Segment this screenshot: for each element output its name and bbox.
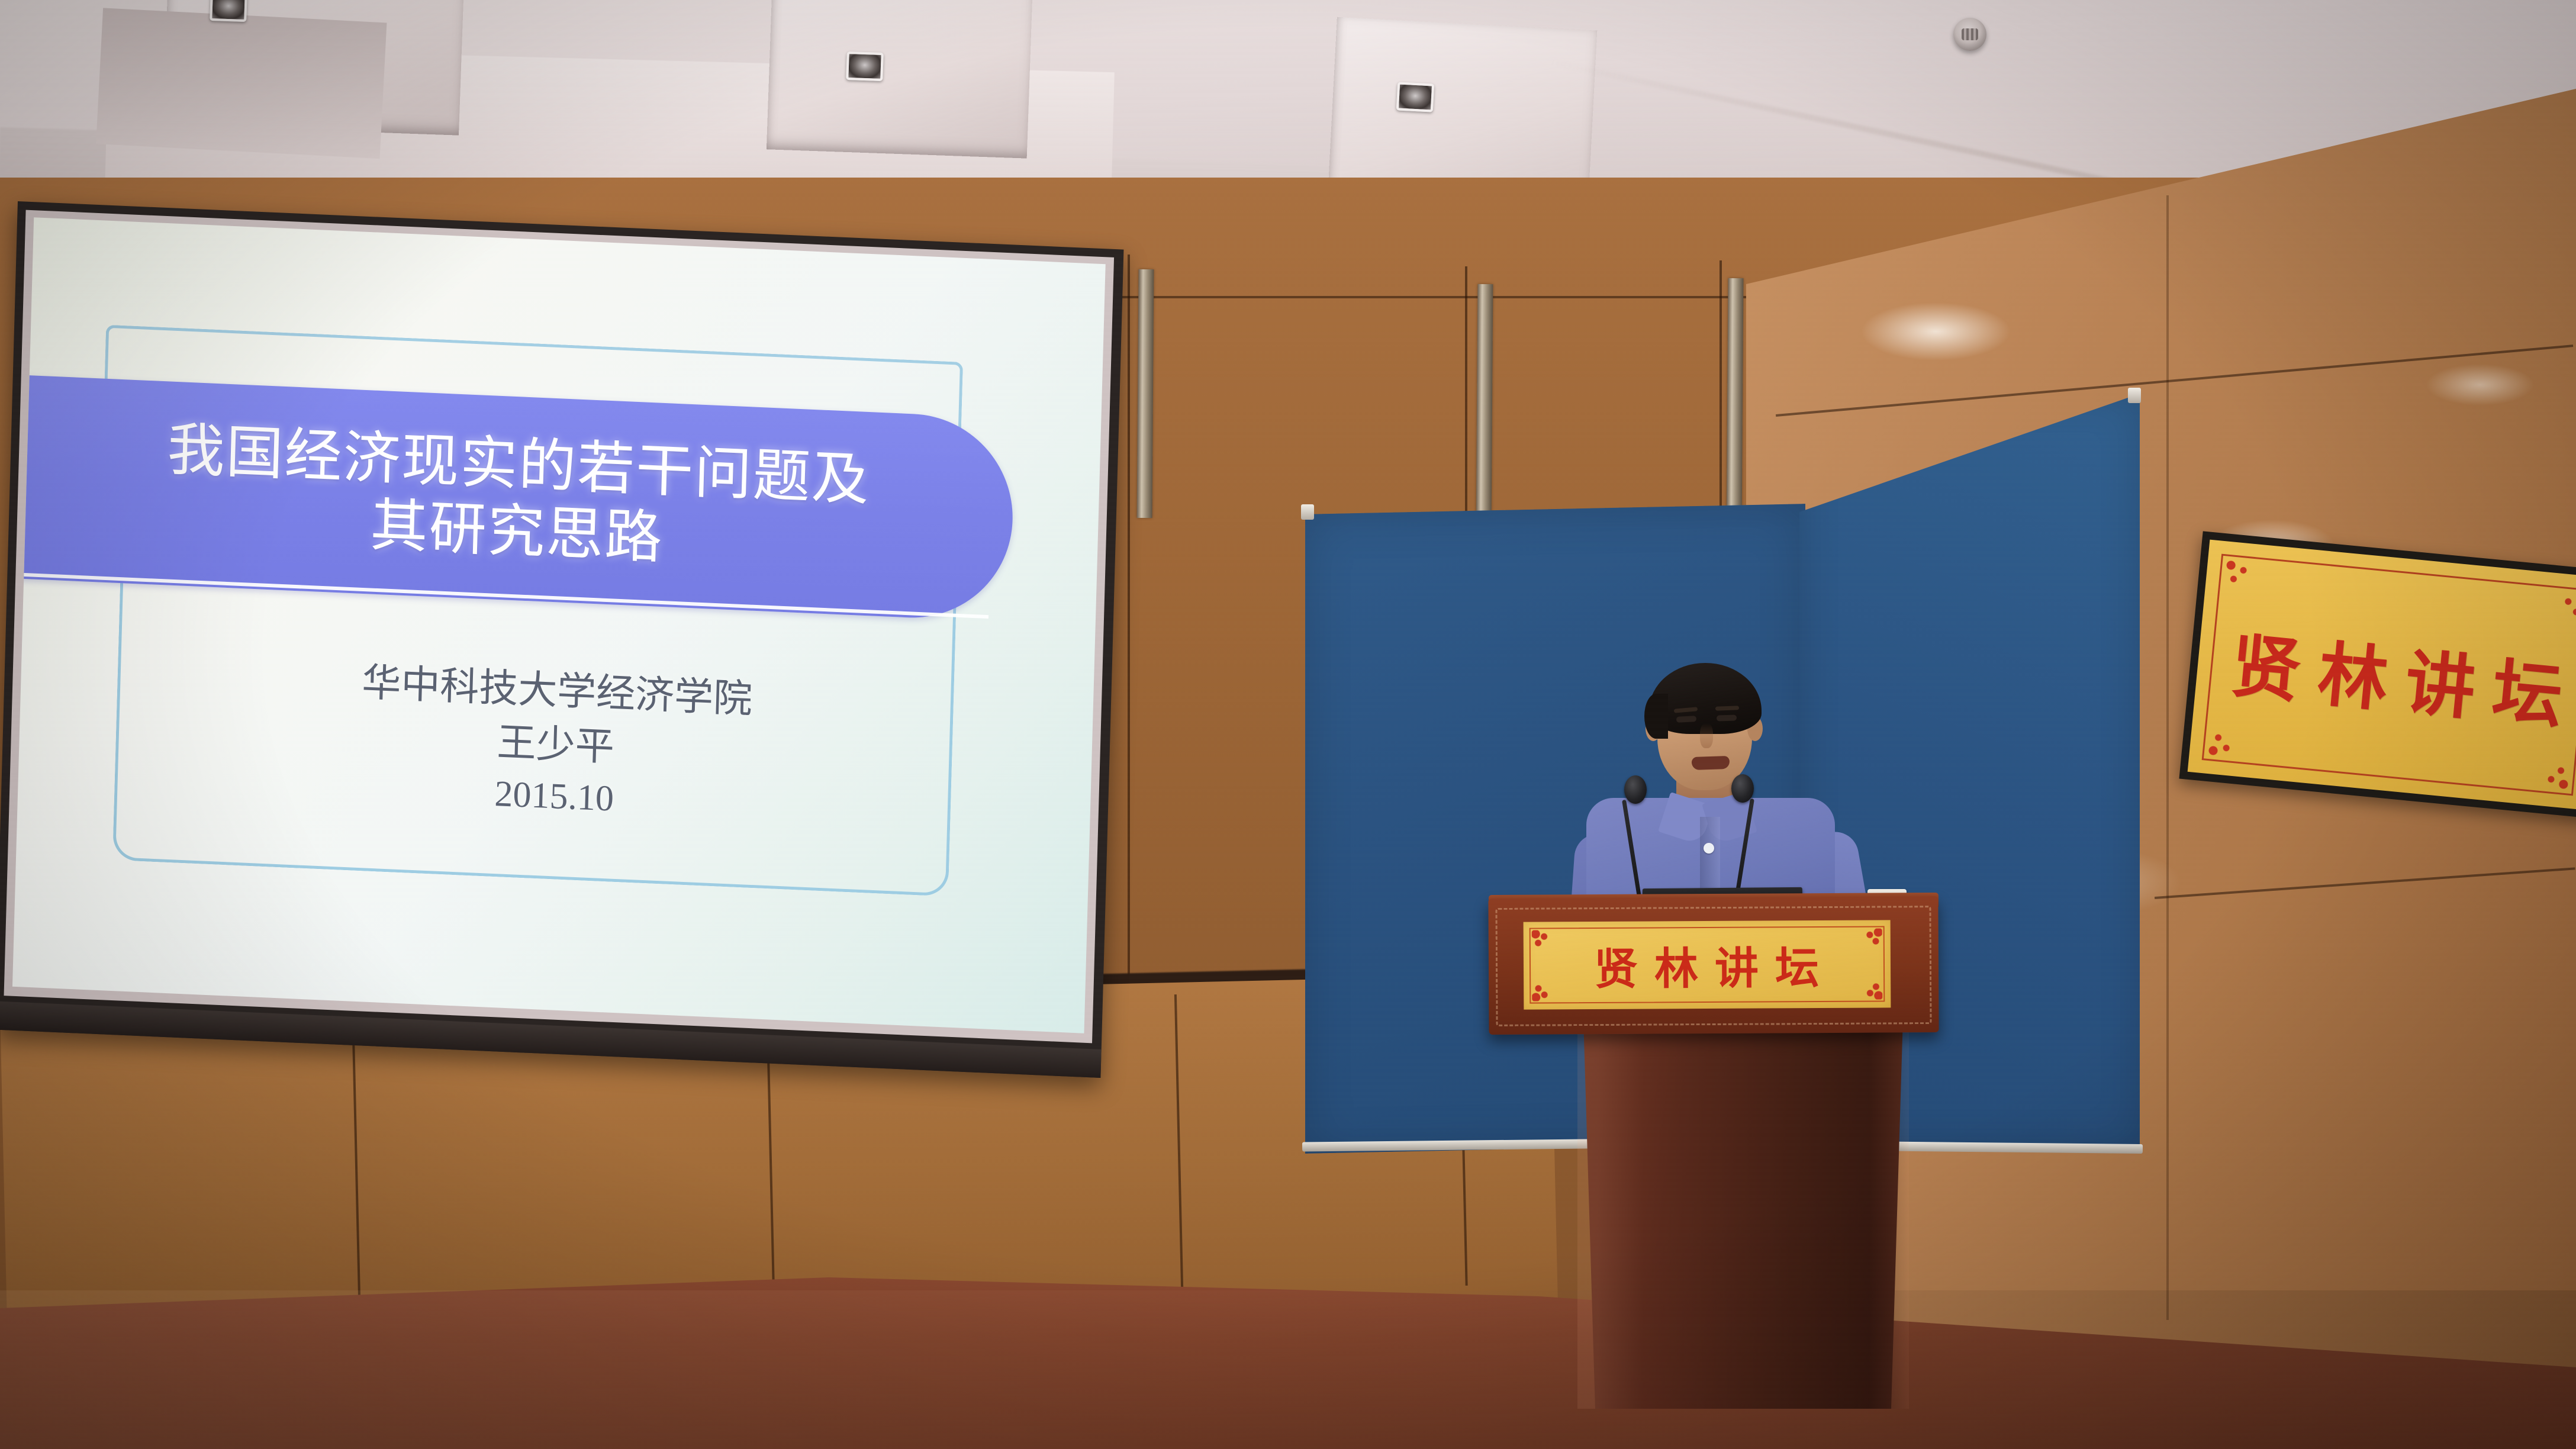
podium-sign: 贤林讲坛 [1524,920,1891,1009]
wood-panel-seam [1113,296,1776,298]
speaker-eye-left [1676,716,1696,723]
plaque-corner-motif-icon [2207,724,2242,759]
lecture-hall-scene: 我国经济现实的若干问题及 其研究思路 华中科技大学经济学院 王少平 2015.1… [0,0,2576,1449]
wall-metal-strip [1137,269,1154,518]
downlight-icon [210,0,247,22]
microphone-capsule-icon [1731,774,1754,803]
slide-title-line-2: 其研究思路 [369,491,664,571]
speaker-nose [1700,723,1713,748]
ceiling-recess-panel-2 [767,0,1033,159]
plaque-corner-motif-icon [2553,591,2576,626]
downlight-icon [1396,82,1434,112]
microphone-capsule-icon [1624,775,1647,804]
speaker-eyebrow-right [1715,706,1739,710]
wall-metal-strip [1726,278,1743,533]
podium-sign-text: 贤林讲坛 [1579,932,1836,997]
downlight-icon [846,51,884,81]
backdrop-clip [2128,388,2141,403]
slide-title-banner: 我国经济现实的若干问题及 其研究思路 [12,374,1016,622]
ceiling-recess-panel-1 [163,0,464,136]
podium-body [1577,1018,1909,1409]
speaker-mouth [1692,756,1730,770]
wall-plaque: 贤林讲坛 [2179,531,2576,818]
speaker-shirt-button [1704,843,1714,854]
wood-panel-seam [1128,255,1130,1024]
podium-sign-corner-motif-icon [1861,978,1882,999]
smoke-detector-icon [1953,18,1986,51]
speaker-eye-right [1717,714,1737,721]
podium-sign-corner-motif-icon [1861,928,1882,949]
projection-screen: 我国经济现实的若干问题及 其研究思路 华中科技大学经济学院 王少平 2015.1… [0,201,1123,1078]
wall-plaque-face: 贤林讲坛 [2188,540,2576,810]
podium-sign-corner-motif-icon [1532,980,1553,1001]
podium-sign-corner-motif-icon [1532,930,1553,951]
slide-title: 我国经济现实的若干问题及 其研究思路 [111,414,906,582]
backdrop-clip [1301,504,1314,520]
plaque-corner-motif-icon [2223,559,2258,594]
wall-metal-strip [1476,284,1493,527]
wood-panel-seam [2166,195,2169,1320]
plaque-corner-motif-icon [2537,756,2572,791]
projected-slide: 我国经济现实的若干问题及 其研究思路 华中科技大学经济学院 王少平 2015.1… [12,217,1106,1033]
